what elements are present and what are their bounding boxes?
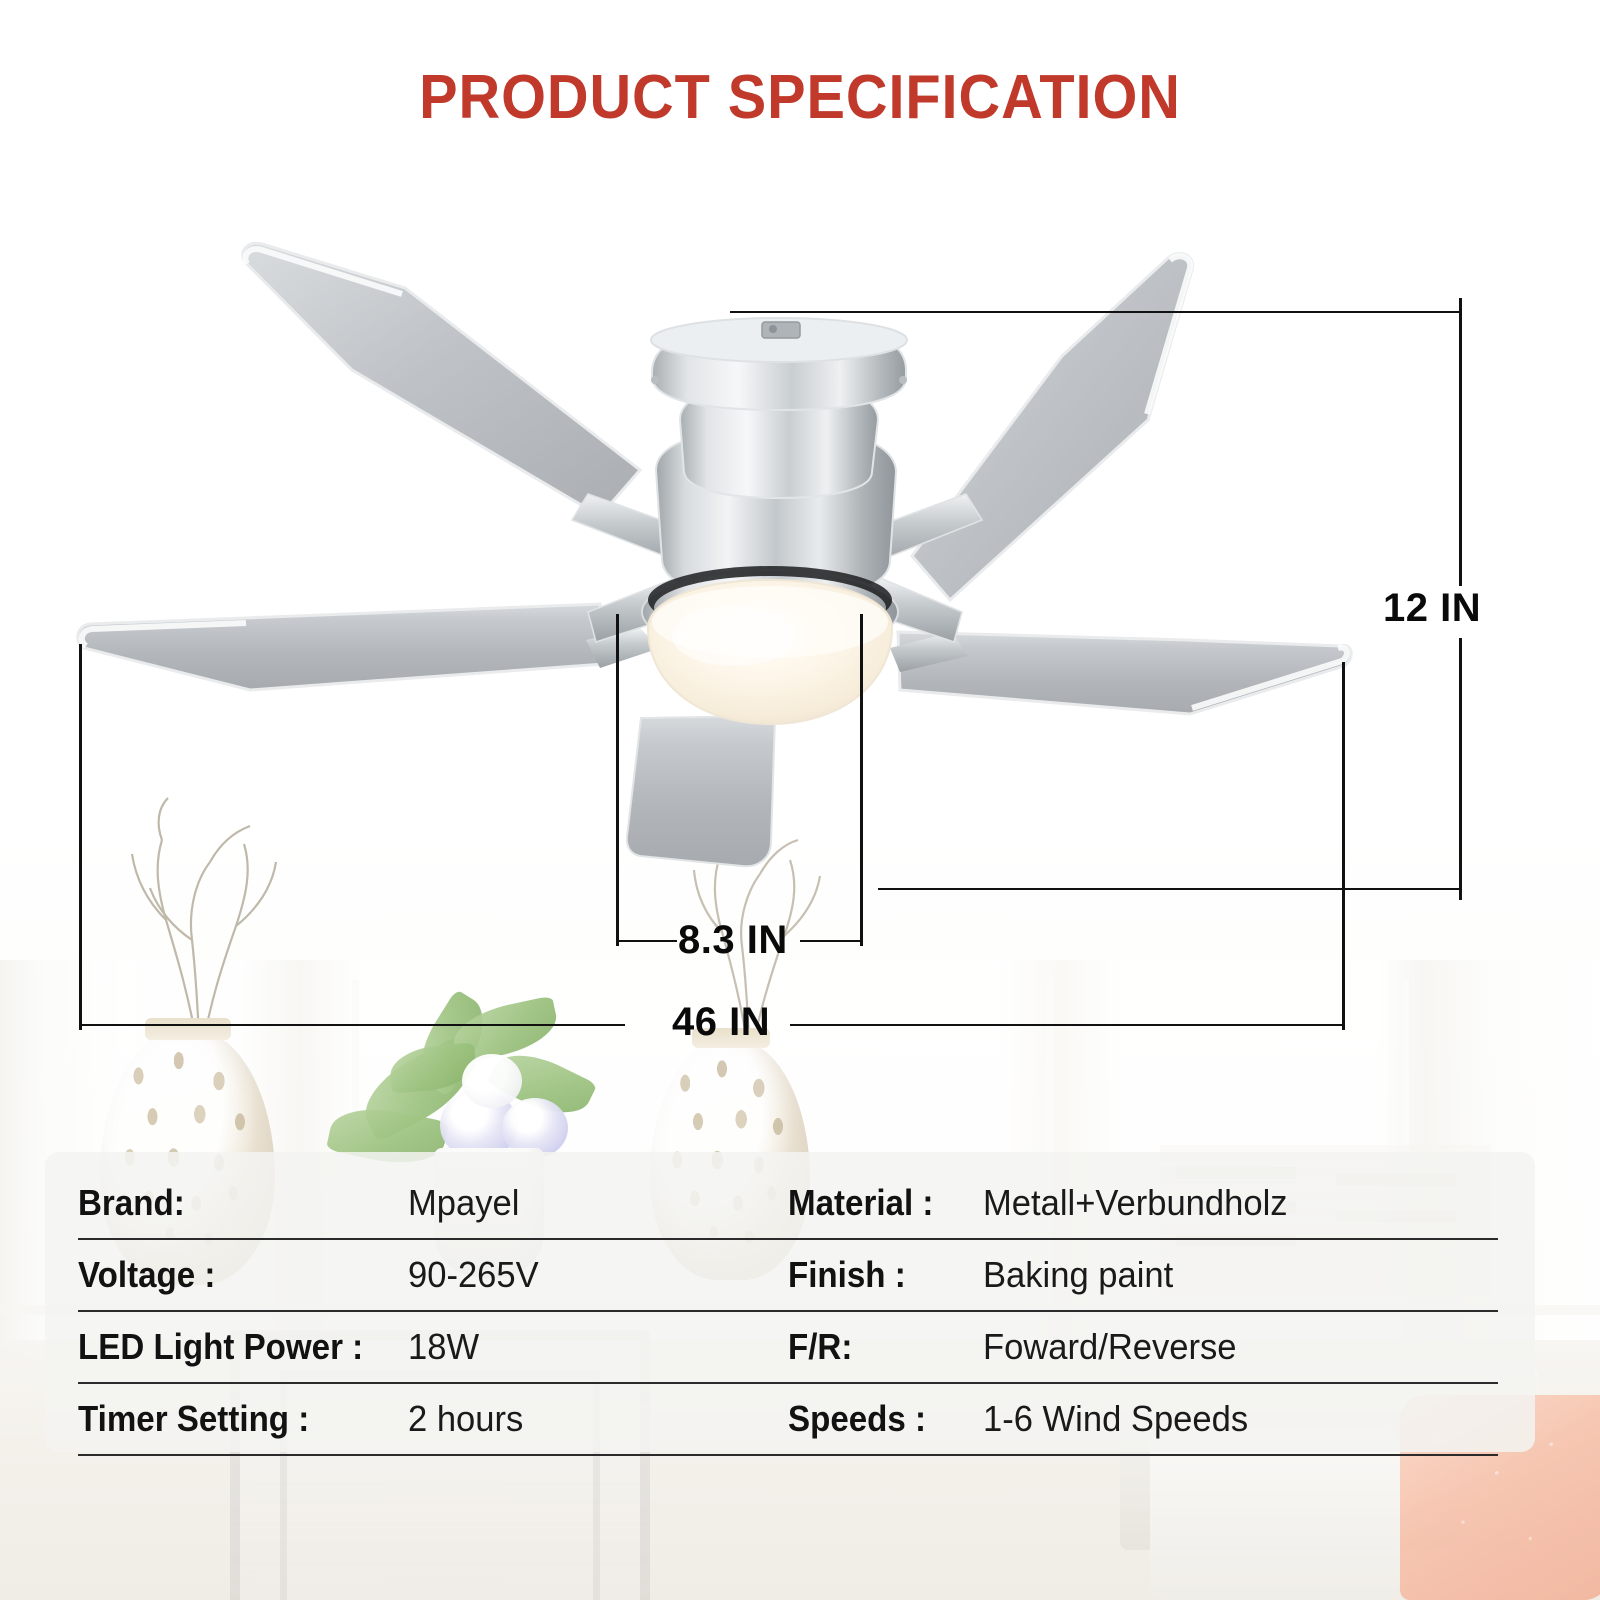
spec-label-led-light-power: LED Light Power : (78, 1326, 382, 1368)
arrow-depth-right (800, 940, 862, 942)
spec-label-timer-setting: Timer Setting : (78, 1398, 382, 1440)
dimension-label-depth: 8.3 IN (678, 918, 788, 963)
spec-value-fr: Foward/Reverse (983, 1326, 1237, 1368)
extension-line-span-left (79, 644, 82, 1030)
extension-line-bottom (878, 888, 1462, 890)
spec-value-led-light-power: 18W (408, 1326, 479, 1368)
table-row: Brand: Mpayel (78, 1168, 788, 1240)
spec-value-finish: Baking paint (983, 1254, 1173, 1296)
spec-label-voltage: Voltage : (78, 1254, 382, 1296)
arrow-depth-left (617, 940, 677, 942)
dimension-line-height-upper (1459, 298, 1462, 586)
spec-value-speeds: 1-6 Wind Speeds (983, 1398, 1248, 1440)
dimension-label-height: 12 IN (1383, 586, 1481, 631)
spec-value-brand: Mpayel (408, 1182, 519, 1224)
table-row: Speeds : 1-6 Wind Speeds (788, 1384, 1498, 1456)
spec-label-speeds: Speeds : (788, 1398, 967, 1440)
spec-value-voltage: 90-265V (408, 1254, 539, 1296)
extension-line-top (730, 311, 1462, 313)
spec-label-material: Material : (788, 1182, 967, 1224)
extension-line-depth-right (860, 614, 863, 946)
dimension-label-span: 46 IN (672, 1000, 770, 1045)
table-row: Timer Setting : 2 hours (78, 1384, 788, 1456)
table-row: F/R: Foward/Reverse (788, 1312, 1498, 1384)
dimension-line-height-lower (1459, 638, 1462, 900)
arrow-span-right (790, 1024, 1345, 1026)
table-row: LED Light Power : 18W (78, 1312, 788, 1384)
spec-label-finish: Finish : (788, 1254, 967, 1296)
specification-table: Brand: Mpayel Material : Metall+Verbundh… (78, 1168, 1498, 1458)
table-row: Material : Metall+Verbundholz (788, 1168, 1498, 1240)
spec-value-material: Metall+Verbundholz (983, 1182, 1288, 1224)
spec-value-timer-setting: 2 hours (408, 1398, 523, 1440)
spec-label-brand: Brand: (78, 1182, 382, 1224)
table-row: Voltage : 90-265V (78, 1240, 788, 1312)
spec-label-fr: F/R: (788, 1326, 967, 1368)
arrow-span-left (80, 1024, 625, 1026)
extension-line-span-right (1342, 662, 1345, 1030)
table-row: Finish : Baking paint (788, 1240, 1498, 1312)
product-specification-page: PRODUCT SPECIFICATION (0, 0, 1600, 1600)
extension-line-depth-left (616, 614, 619, 946)
